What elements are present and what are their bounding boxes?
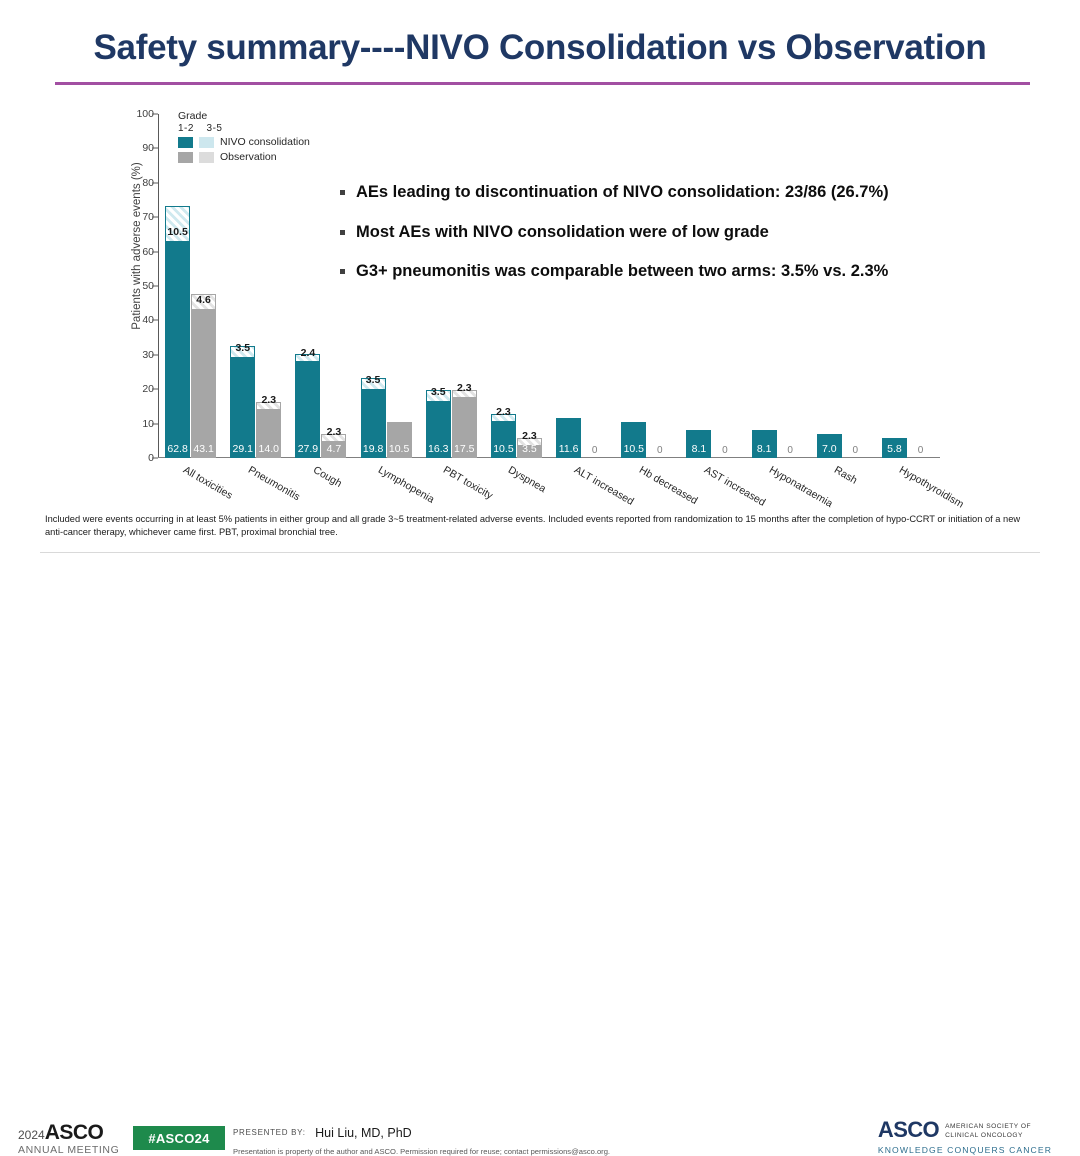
bar-label-grade-3-5: 4.6	[196, 295, 211, 306]
x-axis-label: ALT increased	[572, 464, 636, 508]
bar-segment-grade-1-2: 3.5	[517, 446, 542, 458]
x-axis-label: Cough	[311, 464, 344, 490]
key-finding-item: G3+ pneumonitis was comparable between t…	[340, 261, 1000, 282]
asco-logo-wordmark: ASCO	[878, 1119, 939, 1141]
bar-value-zero: 0	[657, 445, 663, 456]
y-tick-label: 0	[114, 452, 154, 464]
bar-label-grade-1-2: 10.5	[493, 444, 513, 455]
bar-segment-grade-1-2: 19.8	[361, 390, 386, 458]
legend-item-observation: Observation	[178, 151, 310, 163]
bar-segment-grade-1-2: 14.0	[256, 410, 281, 458]
footer-brand: ASCO	[45, 1121, 104, 1144]
bar-segment-grade-3-5: 2.3	[321, 434, 346, 442]
bar-segment-grade-1-2: 5.8	[882, 438, 907, 458]
y-tick-label: 20	[114, 383, 154, 395]
bar-segment-grade-3-5: 2.3	[491, 414, 516, 422]
bar-observation[interactable]: 2.34.7	[321, 434, 346, 458]
bar-label-grade-1-2: 3.5	[522, 444, 537, 455]
bar-label-grade-1-2: 43.1	[193, 444, 213, 455]
bar-nivo[interactable]: 2.427.9	[295, 354, 320, 458]
bar-segment-grade-1-2: 11.6	[556, 418, 581, 458]
bar-label-grade-3-5: 2.4	[301, 348, 316, 359]
bar-segment-grade-1-2: 27.9	[295, 362, 320, 458]
legend-swatch-obs-high	[199, 152, 214, 163]
bar-segment-grade-1-2: 16.3	[426, 402, 451, 458]
chart-legend: Grade 1-2 3-5 NIVO consolidation Observa…	[178, 110, 310, 166]
y-tick-label: 100	[114, 108, 154, 120]
footer-divider	[40, 552, 1040, 553]
bar-segment-grade-1-2: 7.0	[817, 434, 842, 458]
bar-segment-grade-1-2: 10.5	[387, 422, 412, 458]
y-tick-label: 50	[114, 280, 154, 292]
legend-grade-high: 3-5	[207, 123, 223, 134]
bar-value-zero: 0	[722, 445, 728, 456]
bar-segment-grade-1-2: 8.1	[686, 430, 711, 458]
bar-label-grade-1-2: 29.1	[233, 444, 253, 455]
x-axis-label: Hb decreased	[637, 464, 700, 507]
bar-segment-grade-3-5: 3.5	[230, 346, 255, 358]
legend-title: Grade	[178, 110, 310, 122]
bar-label-grade-1-2: 8.1	[692, 444, 707, 455]
bar-segment-grade-1-2: 10.5	[621, 422, 646, 458]
bar-observation[interactable]: 4.643.1	[191, 294, 216, 458]
y-tick-label: 90	[114, 142, 154, 154]
bar-segment-grade-3-5: 2.3	[452, 390, 477, 398]
y-tick-label: 40	[114, 314, 154, 326]
legend-grade-headers: 1-2 3-5	[178, 123, 310, 134]
bar-label-grade-3-5: 2.3	[457, 383, 472, 394]
bar-label-grade-1-2: 7.0	[822, 444, 837, 455]
x-axis-label: Dyspnea	[506, 464, 548, 495]
bar-label-grade-1-2: 11.6	[559, 444, 579, 455]
x-axis-label: Pneumonitis	[246, 464, 302, 503]
bar-label-grade-1-2: 5.8	[887, 444, 902, 455]
bar-value-zero: 0	[853, 445, 859, 456]
footer-meeting: ANNUAL MEETING	[18, 1145, 119, 1156]
bar-nivo[interactable]: 3.519.8	[361, 378, 386, 458]
legend-grade-low: 1-2	[178, 123, 194, 134]
x-axis-label: PBT toxicity	[441, 464, 495, 502]
bar-observation[interactable]: 2.317.5	[452, 390, 477, 458]
bar-label-grade-1-2: 62.8	[167, 444, 187, 455]
x-axis-label: Hyponatraemia	[767, 464, 835, 510]
bullet-square-icon	[340, 190, 345, 195]
bar-label-grade-1-2: 8.1	[757, 444, 772, 455]
bar-label-grade-3-5: 3.5	[431, 387, 446, 398]
bar-label-grade-3-5: 2.3	[522, 431, 537, 442]
key-finding-text: G3+ pneumonitis was comparable between t…	[356, 261, 888, 282]
x-axis-label: Rash	[832, 464, 859, 487]
legend-label-observation: Observation	[220, 151, 277, 163]
bar-label-grade-1-2: 10.5	[624, 444, 644, 455]
bar-nivo[interactable]: 10.562.8	[165, 206, 190, 458]
x-axis-label: All toxicities	[181, 464, 235, 502]
bar-segment-grade-3-5: 10.5	[165, 206, 190, 242]
x-axis-label: Hypothyroidism	[897, 464, 966, 511]
x-axis-label: AST increased	[702, 464, 767, 509]
asco-meeting-logo: 2024ASCO ANNUAL MEETING	[18, 1122, 119, 1156]
bar-segment-grade-1-2: 4.7	[321, 442, 346, 458]
asco-society-line1: AMERICAN SOCIETY OF	[945, 1123, 1031, 1130]
y-tick-label: 60	[114, 246, 154, 258]
slide-footer: 2024ASCO ANNUAL MEETING #ASCO24 PRESENTE…	[0, 556, 1080, 608]
bar-nivo[interactable]: 8.1	[752, 430, 777, 458]
bar-nivo[interactable]: 3.516.3	[426, 390, 451, 458]
bar-value-zero: 0	[592, 445, 598, 456]
bar-segment-grade-1-2: 62.8	[165, 242, 190, 458]
bar-label-grade-3-5: 10.5	[167, 227, 187, 238]
bar-segment-grade-1-2: 10.5	[491, 422, 516, 458]
bar-value-zero: 0	[787, 445, 793, 456]
bar-label-grade-1-2: 19.8	[363, 444, 383, 455]
hashtag-badge: #ASCO24	[133, 1126, 225, 1150]
legend-swatch-nivo-high	[199, 137, 214, 148]
bar-label-grade-1-2: 17.5	[454, 444, 474, 455]
bar-nivo[interactable]: 8.1	[686, 430, 711, 458]
legend-swatch-obs-low	[178, 152, 193, 163]
y-tick-label: 80	[114, 177, 154, 189]
asco-tagline: KNOWLEDGE CONQUERS CANCER	[878, 1145, 1052, 1155]
bar-segment-grade-3-5: 2.4	[295, 354, 320, 362]
bar-nivo[interactable]: 5.8	[882, 438, 907, 458]
bar-label-grade-1-2: 16.3	[428, 444, 448, 455]
y-tick-label: 10	[114, 418, 154, 430]
bar-label-grade-3-5: 2.3	[496, 407, 511, 418]
bar-label-grade-3-5: 2.3	[261, 395, 276, 406]
bar-segment-grade-3-5: 2.3	[517, 438, 542, 446]
title-underline	[55, 82, 1030, 85]
bar-nivo[interactable]: 11.6	[556, 418, 581, 458]
bar-segment-grade-3-5: 4.6	[191, 294, 216, 310]
key-finding-item: Most AEs with NIVO consolidation were of…	[340, 222, 1000, 243]
bar-observation[interactable]: 2.33.5	[517, 438, 542, 458]
legend-label-nivo: NIVO consolidation	[220, 136, 310, 148]
bar-label-grade-3-5: 3.5	[366, 375, 381, 386]
key-findings-list: AEs leading to discontinuation of NIVO c…	[340, 182, 1000, 301]
bar-value-zero: 0	[918, 445, 924, 456]
footer-year: 2024	[18, 1128, 45, 1142]
key-finding-text: Most AEs with NIVO consolidation were of…	[356, 222, 769, 243]
bar-label-grade-3-5: 2.3	[327, 427, 342, 438]
bar-label-grade-1-2: 10.5	[389, 444, 409, 455]
x-axis-label: Lymphopenia	[376, 464, 436, 506]
presenter-block: PRESENTED BY: Hui Liu, MD, PhD Presentat…	[233, 1124, 610, 1156]
bar-nivo[interactable]: 3.529.1	[230, 346, 255, 458]
y-tick-label: 30	[114, 349, 154, 361]
bullet-square-icon	[340, 269, 345, 274]
presenter-name: Hui Liu, MD, PhD	[315, 1126, 412, 1140]
presented-by-label: PRESENTED BY:	[233, 1128, 306, 1137]
legend-item-nivo: NIVO consolidation	[178, 136, 310, 148]
bullet-square-icon	[340, 230, 345, 235]
bar-nivo[interactable]: 10.5	[621, 422, 646, 458]
bar-observation[interactable]: 2.314.0	[256, 402, 281, 458]
bar-label-grade-1-2: 4.7	[327, 444, 342, 455]
bar-observation[interactable]: 10.5	[387, 422, 412, 458]
bar-label-grade-1-2: 27.9	[298, 444, 318, 455]
asco-society-name: AMERICAN SOCIETY OF CLINICAL ONCOLOGY	[945, 1123, 1031, 1140]
key-finding-item: AEs leading to discontinuation of NIVO c…	[340, 182, 1000, 203]
key-finding-text: AEs leading to discontinuation of NIVO c…	[356, 182, 889, 203]
bar-segment-grade-1-2: 43.1	[191, 310, 216, 458]
footnote: Included were events occurring in at lea…	[45, 513, 1035, 540]
asco-society-line2: CLINICAL ONCOLOGY	[945, 1132, 1023, 1139]
safety-summary-chart: Patients with adverse events (%) 0102030…	[110, 108, 940, 508]
rights-notice: Presentation is property of the author a…	[233, 1147, 610, 1156]
y-tick-label: 70	[114, 211, 154, 223]
legend-swatch-nivo-low	[178, 137, 193, 148]
bar-segment-grade-3-5: 2.3	[256, 402, 281, 410]
bar-segment-grade-1-2: 29.1	[230, 358, 255, 458]
bar-label-grade-1-2: 14.0	[259, 444, 279, 455]
page-title: Safety summary----NIVO Consolidation vs …	[0, 30, 1080, 67]
title-block: Safety summary----NIVO Consolidation vs …	[0, 30, 1080, 67]
slide: Safety summary----NIVO Consolidation vs …	[0, 0, 1080, 608]
bar-nivo[interactable]: 2.310.5	[491, 414, 516, 458]
bar-segment-grade-3-5: 3.5	[361, 378, 386, 390]
bar-segment-grade-3-5: 3.5	[426, 390, 451, 402]
asco-org-logo: ASCO AMERICAN SOCIETY OF CLINICAL ONCOLO…	[878, 1119, 1052, 1155]
bar-segment-grade-1-2: 8.1	[752, 430, 777, 458]
bar-segment-grade-1-2: 17.5	[452, 398, 477, 458]
bar-nivo[interactable]: 7.0	[817, 434, 842, 458]
bar-label-grade-3-5: 3.5	[235, 343, 250, 354]
